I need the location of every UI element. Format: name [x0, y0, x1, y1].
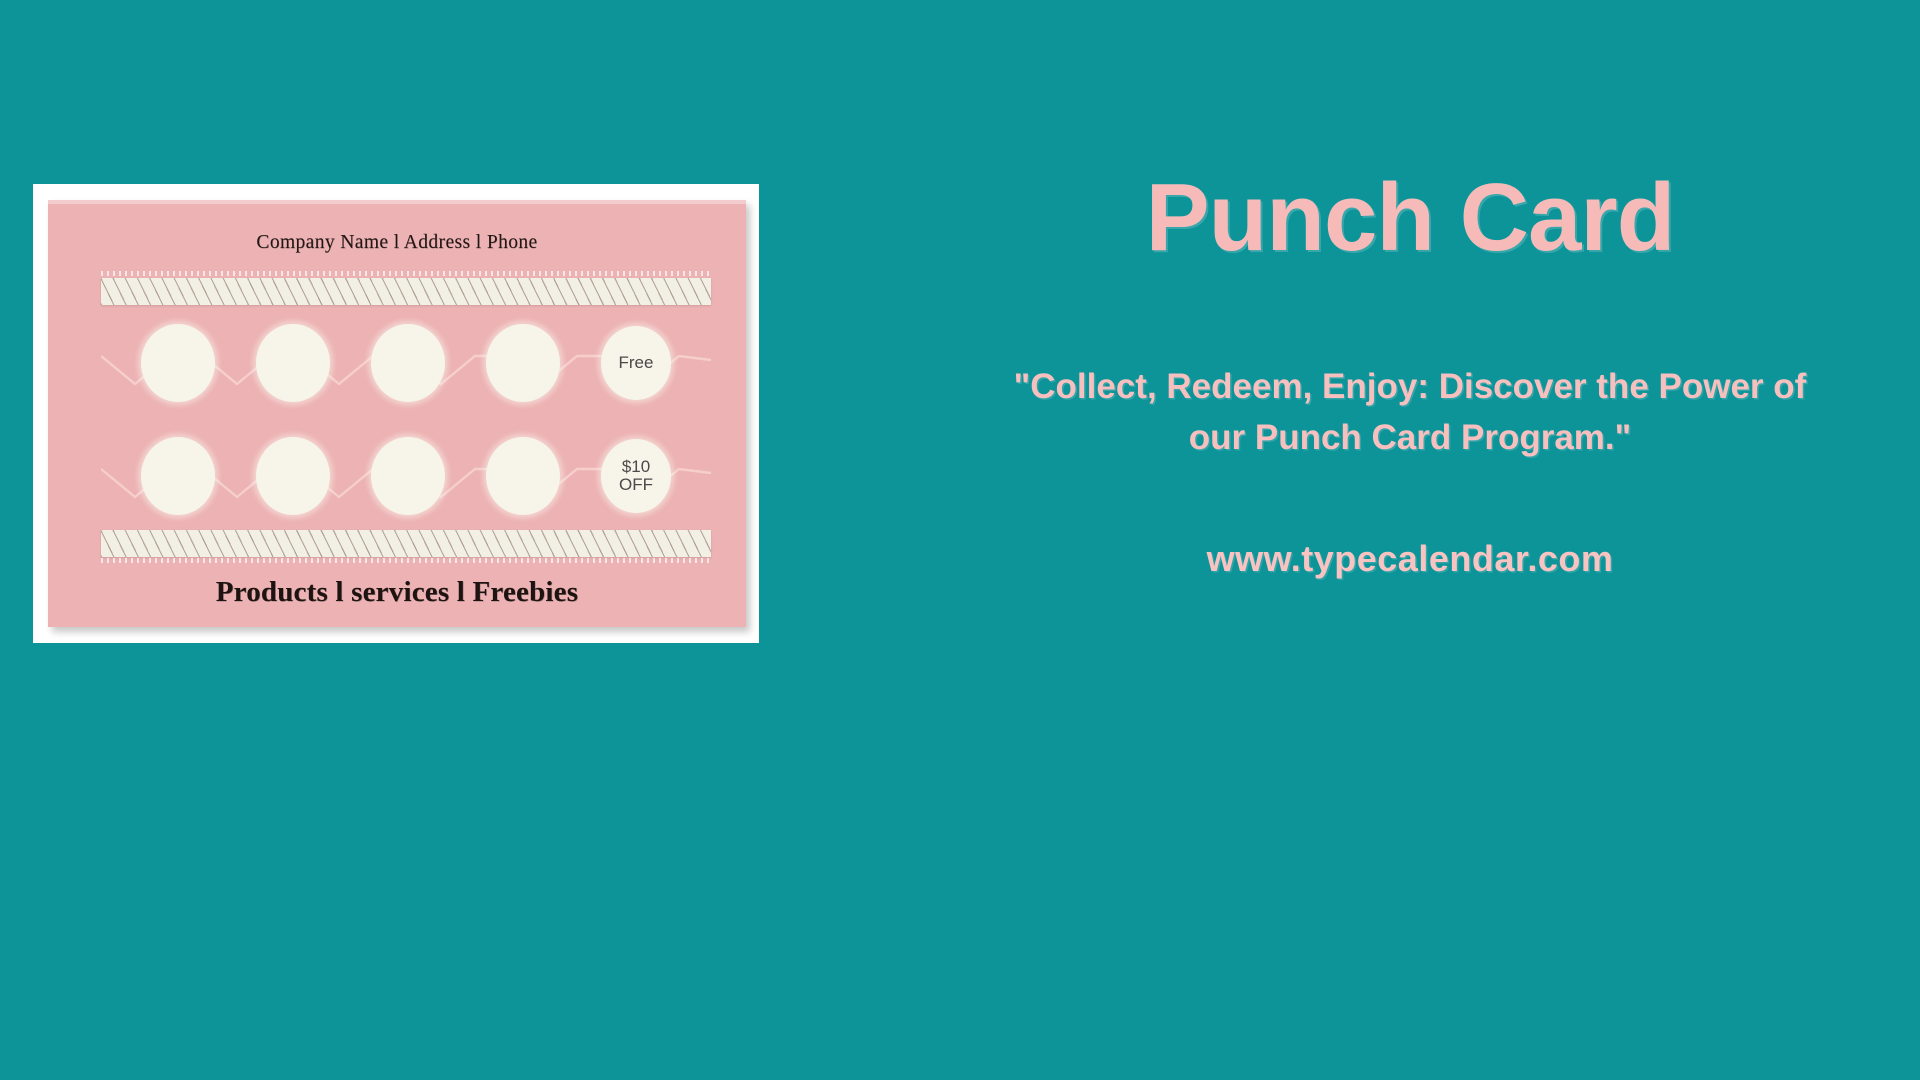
promo-panel: Punch Card "Collect, Redeem, Enjoy: Disc…: [960, 170, 1860, 580]
punch-row-1: Free: [101, 320, 711, 406]
perforation-row-bottom: [101, 558, 711, 563]
reward-slot-discount[interactable]: $10 OFF: [601, 439, 671, 513]
punch-slot[interactable]: [371, 324, 445, 402]
hatched-band-bottom: [101, 530, 711, 557]
punch-slot[interactable]: [141, 437, 215, 515]
page-title: Punch Card: [960, 170, 1860, 266]
punch-card-preview-frame: Company Name l Address l Phone Free: [33, 184, 759, 643]
reward-label-line-2: OFF: [619, 476, 653, 494]
punch-slot[interactable]: [486, 324, 560, 402]
reward-label-line-1: $10: [622, 458, 650, 476]
website-url[interactable]: www.typecalendar.com: [960, 538, 1860, 580]
reward-label-line-1: Free: [619, 354, 654, 372]
card-footer: Products l services l Freebies: [48, 576, 746, 609]
punch-slot[interactable]: [141, 324, 215, 402]
promo-tagline: "Collect, Redeem, Enjoy: Discover the Po…: [960, 362, 1860, 464]
hatched-band-top: [101, 278, 711, 305]
punch-slot[interactable]: [486, 437, 560, 515]
punch-slot[interactable]: [371, 437, 445, 515]
punch-slots-row-2: $10 OFF: [101, 433, 711, 519]
punch-slot[interactable]: [256, 324, 330, 402]
punch-card: Company Name l Address l Phone Free: [48, 200, 746, 627]
page-root: Company Name l Address l Phone Free: [0, 0, 1920, 1080]
punch-slots-row-1: Free: [101, 320, 711, 406]
card-heading: Company Name l Address l Phone: [48, 232, 746, 254]
punch-slot[interactable]: [256, 437, 330, 515]
reward-slot-free[interactable]: Free: [601, 326, 671, 400]
punch-row-2: $10 OFF: [101, 433, 711, 519]
perforation-row-top: [101, 271, 711, 276]
